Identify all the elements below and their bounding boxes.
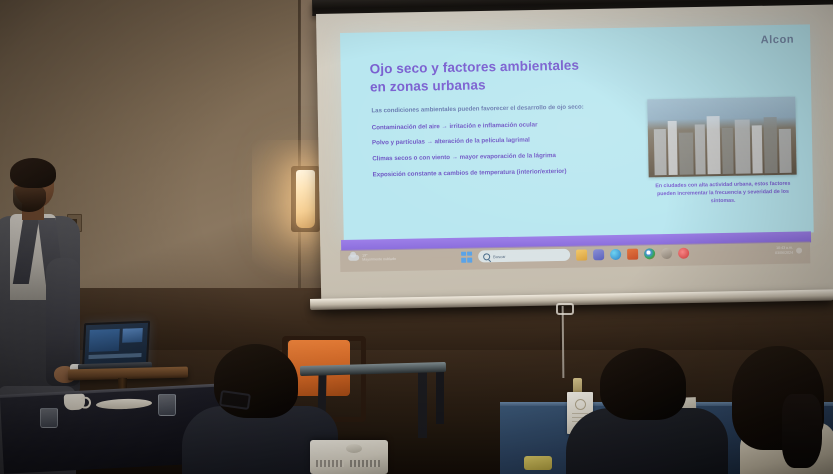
coffee-cup — [64, 394, 86, 411]
audience-member-2-hair — [600, 348, 686, 420]
wall-seam — [298, 0, 301, 300]
slide-photo-caption: En ciudades con alta actividad urbana, e… — [649, 181, 797, 207]
search-icon — [483, 253, 490, 260]
audience-member-2 — [578, 348, 728, 474]
water-glass-center — [158, 394, 176, 416]
taskbar-search-input[interactable]: Buscar — [478, 249, 570, 263]
wall-sconce-icon — [296, 170, 315, 228]
mid-table-leg-b — [418, 372, 427, 438]
taskbar-clock[interactable]: 10:43 a.m. 03/06/2024 — [775, 246, 793, 256]
slide-title-line-2: en zonas urbanas — [370, 73, 650, 96]
presenter-beard — [13, 186, 46, 212]
teams-icon[interactable] — [593, 249, 604, 260]
water-glass-left — [40, 408, 58, 428]
start-button-icon[interactable] — [461, 251, 472, 262]
taskbar-system-tray[interactable]: 10:43 a.m. 03/06/2024 — [775, 246, 802, 256]
notification-bell-icon[interactable] — [796, 247, 802, 253]
weather-condition: Mayormente nublado — [362, 257, 396, 262]
app-icon-6[interactable] — [661, 247, 672, 258]
projector-vent — [316, 460, 344, 467]
powerpoint-icon[interactable] — [627, 248, 638, 259]
screen-pull-ring[interactable] — [556, 303, 574, 315]
slide-bullet-3: Climas secos o con viento → mayor evapor… — [372, 151, 610, 164]
laptop-taskbar-pane — [88, 353, 141, 359]
clock-date: 03/06/2024 — [775, 250, 793, 255]
laptop-notes-pane — [122, 328, 143, 343]
audience-member-1 — [196, 344, 326, 474]
slide-body: Las condiciones ambientales pueden favor… — [371, 103, 610, 187]
presenter-hair — [10, 158, 56, 188]
projector-label — [350, 460, 380, 467]
slide-title: Ojo seco y factores ambientales en zonas… — [370, 55, 651, 96]
presentation-slide: Alcon Ojo seco y factores ambientales en… — [340, 24, 814, 241]
laptop-slide-pane — [89, 329, 120, 352]
slide-bullet-1: Contaminación del aire → irritación e in… — [372, 120, 610, 133]
cloud-icon — [348, 255, 359, 261]
slide-bullet-2: Polvo y partículas → alteración de la pe… — [372, 136, 610, 149]
app-icon-7[interactable] — [678, 247, 689, 258]
chrome-icon[interactable] — [644, 248, 655, 259]
conference-room-scene: Alcon Ojo seco y factores ambientales en… — [0, 0, 833, 474]
slide-intro-text: Las condiciones ambientales pueden favor… — [371, 103, 609, 116]
slide-bullet-4: Exposición constante a cambios de temper… — [373, 167, 611, 180]
projector — [310, 440, 388, 474]
edge-icon[interactable] — [610, 248, 621, 259]
alcon-logo: Alcon — [761, 34, 795, 47]
projector-lens-icon — [346, 444, 362, 453]
audience-member-3 — [724, 346, 833, 474]
audience-member-3-hair-front — [782, 394, 822, 468]
weather-text: 19° Mayormente nublado — [362, 253, 396, 263]
search-placeholder-text: Buscar — [493, 253, 506, 258]
mid-table-leg-c — [436, 372, 444, 424]
yellow-table-item — [524, 456, 552, 470]
slide-city-photo — [647, 97, 796, 178]
taskbar-center-group: Buscar — [461, 247, 689, 263]
taskbar-weather-widget[interactable]: 19° Mayormente nublado — [348, 253, 396, 263]
file-explorer-icon[interactable] — [576, 249, 587, 260]
